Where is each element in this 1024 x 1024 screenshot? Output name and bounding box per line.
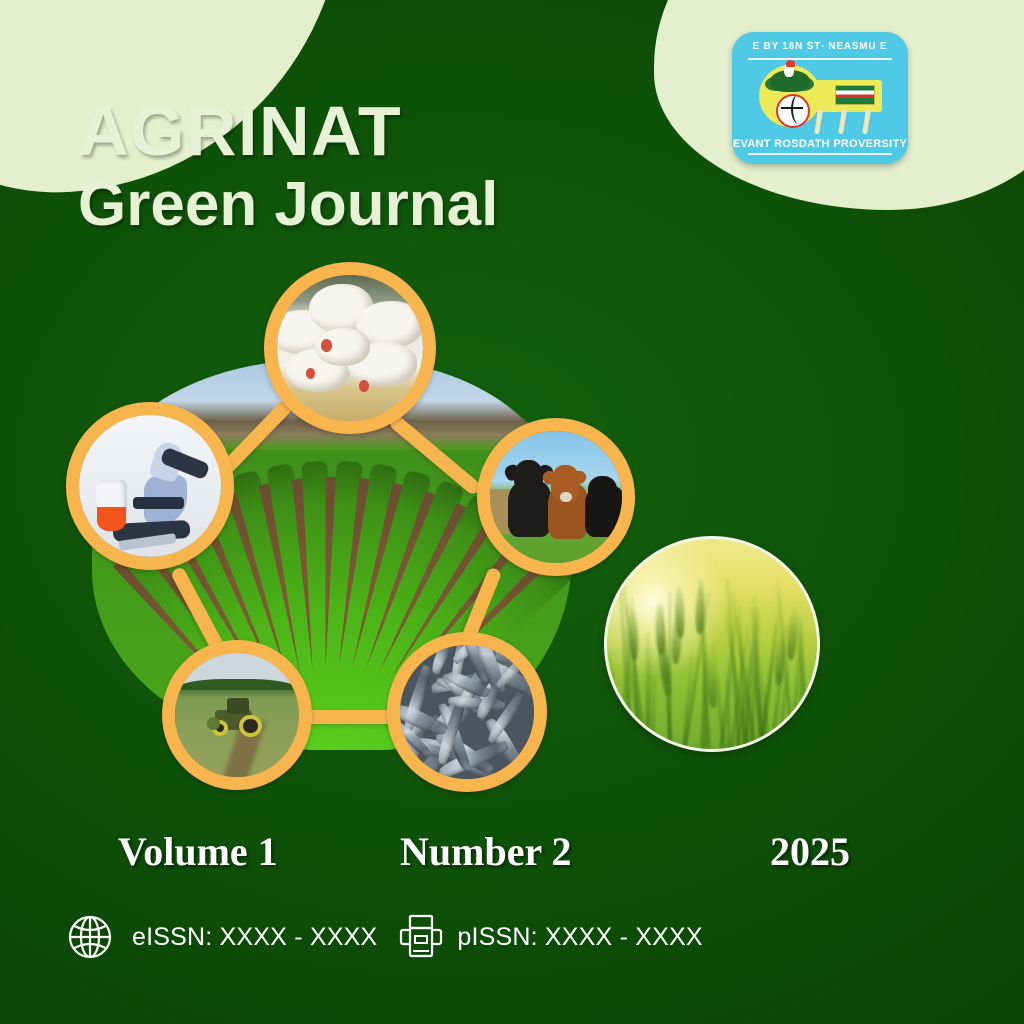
collage-circle-cattle[interactable] xyxy=(477,418,635,576)
page-title: AGRINAT xyxy=(78,96,638,166)
issue-info-row: Volume 1 Number 2 2025 xyxy=(0,828,1024,884)
issn-row: eISSN: XXXX - XXXX pISSN: XXXX - XXXX xyxy=(66,908,703,966)
wheat-stalk xyxy=(809,639,820,752)
key-tooth-icon xyxy=(838,110,847,134)
logo-bottom-text: EVANT ROSDATH PROVERSITY xyxy=(732,138,908,150)
eissn-group: eISSN: XXXX - XXXX xyxy=(66,913,377,961)
laboratory-photo xyxy=(79,415,221,557)
flag-icon xyxy=(835,85,875,105)
globe-emblem-icon xyxy=(776,94,810,128)
cattle-photo xyxy=(490,431,622,563)
collage-circle-poultry[interactable] xyxy=(264,262,436,434)
wheat-ear xyxy=(655,603,666,655)
logo-top-text: E BY 16N ST- NEASMU E xyxy=(732,41,908,52)
rooster-comb-icon xyxy=(786,60,795,67)
journal-title-block: AGRINAT Green Journal xyxy=(78,96,638,239)
tractor-photo xyxy=(175,653,299,777)
journal-cover: AGRINAT Green Journal E BY 16N ST- NEASM… xyxy=(0,0,1024,1024)
collage-circle-tractor[interactable] xyxy=(162,640,312,790)
collage-circle-laboratory[interactable] xyxy=(66,402,234,570)
logo-divider-top xyxy=(748,58,892,60)
poultry-photo xyxy=(277,275,423,421)
eissn-label: eISSN: XXXX - XXXX xyxy=(132,923,377,952)
page-subtitle: Green Journal xyxy=(78,170,638,239)
pissn-label: pISSN: XXXX - XXXX xyxy=(457,923,702,952)
publisher-logo[interactable]: E BY 16N ST- NEASMU E EVANT ROSDATH PROV… xyxy=(732,32,908,164)
wheat-field-circle[interactable] xyxy=(604,536,820,752)
logo-divider-bottom xyxy=(748,153,892,155)
fish-photo xyxy=(400,645,534,779)
wheat-ear xyxy=(628,608,639,660)
collage-circle-fish[interactable] xyxy=(387,632,547,792)
number-label: Number 2 xyxy=(400,828,571,875)
year-label: 2025 xyxy=(770,828,850,875)
collage xyxy=(92,300,572,770)
pissn-group: pISSN: XXXX - XXXX xyxy=(377,914,702,960)
globe-icon xyxy=(66,913,114,961)
key-tooth-icon xyxy=(862,110,871,134)
volume-label: Volume 1 xyxy=(118,828,278,875)
printer-icon xyxy=(395,914,447,960)
